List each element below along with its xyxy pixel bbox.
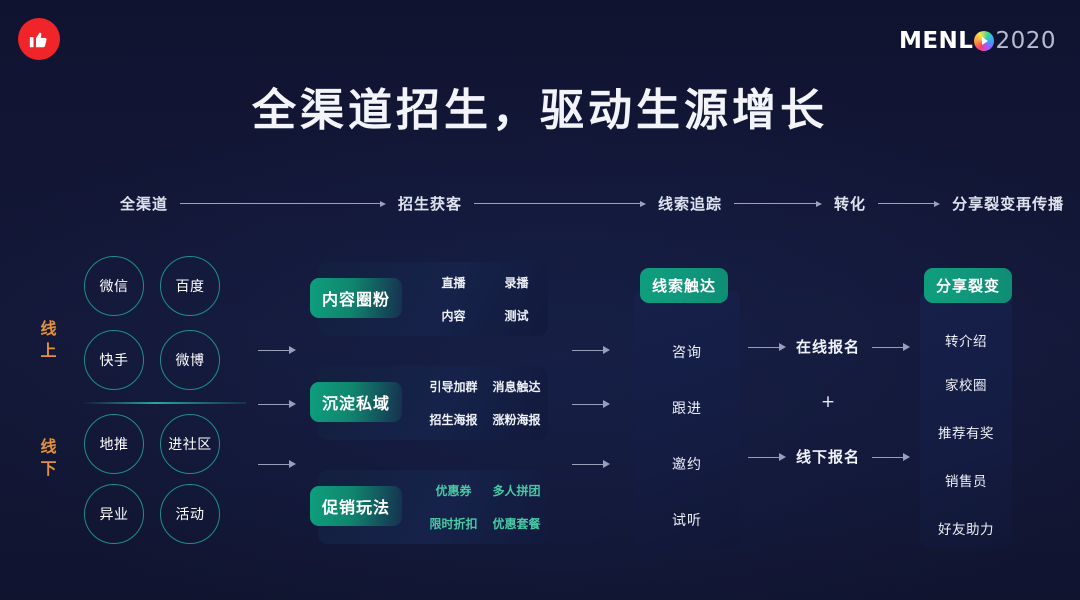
card-private-domain[interactable]: 沉淀私域 引导加群 消息触达 招生海报 涨粉海报 [318,366,548,440]
diagram-board: 线上 线下 微信 百度 快手 微博 地推 进社区 异业 活动 内容圈粉 直播 [0,240,1080,560]
card-tag-promotion: 促销玩法 [310,486,402,526]
channel-weibo[interactable]: 微博 [160,330,220,390]
channel-baidu[interactable]: 百度 [160,256,220,316]
card-item[interactable]: 优惠券 [422,482,485,499]
flow-header: 全渠道 招生获客 线索追踪 转化 分享裂变再传播 [120,193,1045,214]
card-item[interactable]: 多人拼团 [485,482,548,499]
arrow-conversion-to-share-1 [872,343,910,351]
leads-item-consult[interactable]: 咨询 [634,342,740,362]
arrow-cards-to-leads-3 [572,460,610,468]
share-item-reward[interactable]: 推荐有奖 [920,422,1012,442]
conversion-plus-symbol: + [790,392,866,412]
channel-cross-industry[interactable]: 异业 [84,484,144,544]
card-tag-private-domain: 沉淀私域 [310,382,402,422]
card-items-private-domain: 引导加群 消息触达 招生海报 涨粉海报 [422,378,548,428]
card-item[interactable]: 引导加群 [422,378,485,395]
play-circle-icon [974,31,994,51]
label-online: 线上 [34,318,64,362]
leads-item-followup[interactable]: 跟进 [634,398,740,418]
menlo-year: 2020 [995,28,1056,54]
card-item[interactable]: 限时折扣 [422,515,485,532]
arrow-leads-to-online-signup [748,343,786,351]
flow-arrow-1 [180,201,386,207]
card-item[interactable]: 录播 [485,274,548,291]
flow-step-1: 全渠道 [120,193,168,214]
channel-row-2: 快手 微博 [84,330,220,390]
card-item[interactable]: 消息触达 [485,378,548,395]
leads-panel-tag: 线索触达 [640,268,728,303]
card-item[interactable]: 涨粉海报 [485,411,548,428]
arrow-conversion-to-share-2 [872,453,910,461]
thumbs-up-icon [28,28,50,50]
share-item-friend-help[interactable]: 好友助力 [920,518,1012,538]
channel-ground-promo[interactable]: 地推 [84,414,144,474]
channel-events[interactable]: 活动 [160,484,220,544]
label-offline: 线下 [34,436,64,480]
flow-step-3: 线索追踪 [658,193,722,214]
flow-step-2: 招生获客 [398,193,462,214]
card-item[interactable]: 优惠套餐 [485,515,548,532]
menlo-2020-logo: MENL 2020 [899,28,1056,54]
leads-item-invite[interactable]: 邀约 [634,454,740,474]
card-item[interactable]: 测试 [485,307,548,324]
leads-panel: 咨询 跟进 邀约 试听 [634,290,740,548]
share-item-circle[interactable]: 家校圈 [920,374,1012,394]
card-item[interactable]: 直播 [422,274,485,291]
arrow-channels-to-card-2 [258,400,296,408]
card-item[interactable]: 招生海报 [422,411,485,428]
share-item-salesman[interactable]: 销售员 [920,470,1012,490]
thumbs-up-logo [18,18,60,60]
channel-wechat[interactable]: 微信 [84,256,144,316]
flow-arrow-3 [734,201,822,207]
card-item[interactable]: 内容 [422,307,485,324]
menlo-wordmark: MENL [899,28,974,54]
flow-arrow-4 [878,201,940,207]
channel-row-3: 地推 进社区 [84,414,220,474]
card-content-fans[interactable]: 内容圈粉 直播 录播 内容 测试 [318,262,548,336]
arrow-cards-to-leads-2 [572,400,610,408]
card-items-promotion: 优惠券 多人拼团 限时折扣 优惠套餐 [422,482,548,532]
conversion-online-signup[interactable]: 在线报名 [790,336,866,357]
leads-item-trial[interactable]: 试听 [634,510,740,530]
arrow-cards-to-leads-1 [572,346,610,354]
online-offline-divider [82,402,246,404]
channel-row-4: 异业 活动 [84,484,220,544]
conversion-offline-signup[interactable]: 线下报名 [790,446,866,467]
flow-step-5: 分享裂变再传播 [952,193,1064,214]
share-panel: 转介绍 家校圈 推荐有奖 销售员 好友助力 [920,290,1012,548]
arrow-channels-to-card-1 [258,346,296,354]
channel-kuaishou[interactable]: 快手 [84,330,144,390]
channel-circle-group: 微信 百度 快手 微博 地推 进社区 异业 活动 [84,250,244,550]
acquisition-card-group: 内容圈粉 直播 录播 内容 测试 沉淀私域 引导加群 消息触达 招生海报 涨粉海… [318,262,548,544]
arrow-leads-to-offline-signup [748,453,786,461]
share-item-referral[interactable]: 转介绍 [920,330,1012,350]
channel-community[interactable]: 进社区 [160,414,220,474]
flow-arrow-2 [474,201,646,207]
share-panel-tag: 分享裂变 [924,268,1012,303]
page-title: 全渠道招生，驱动生源增长 [0,74,1080,138]
channel-row-1: 微信 百度 [84,256,220,316]
arrow-channels-to-card-3 [258,460,296,468]
card-items-content-fans: 直播 录播 内容 测试 [422,274,548,324]
card-tag-content-fans: 内容圈粉 [310,278,402,318]
card-promotion[interactable]: 促销玩法 优惠券 多人拼团 限时折扣 优惠套餐 [318,470,548,544]
flow-step-4: 转化 [834,193,866,214]
